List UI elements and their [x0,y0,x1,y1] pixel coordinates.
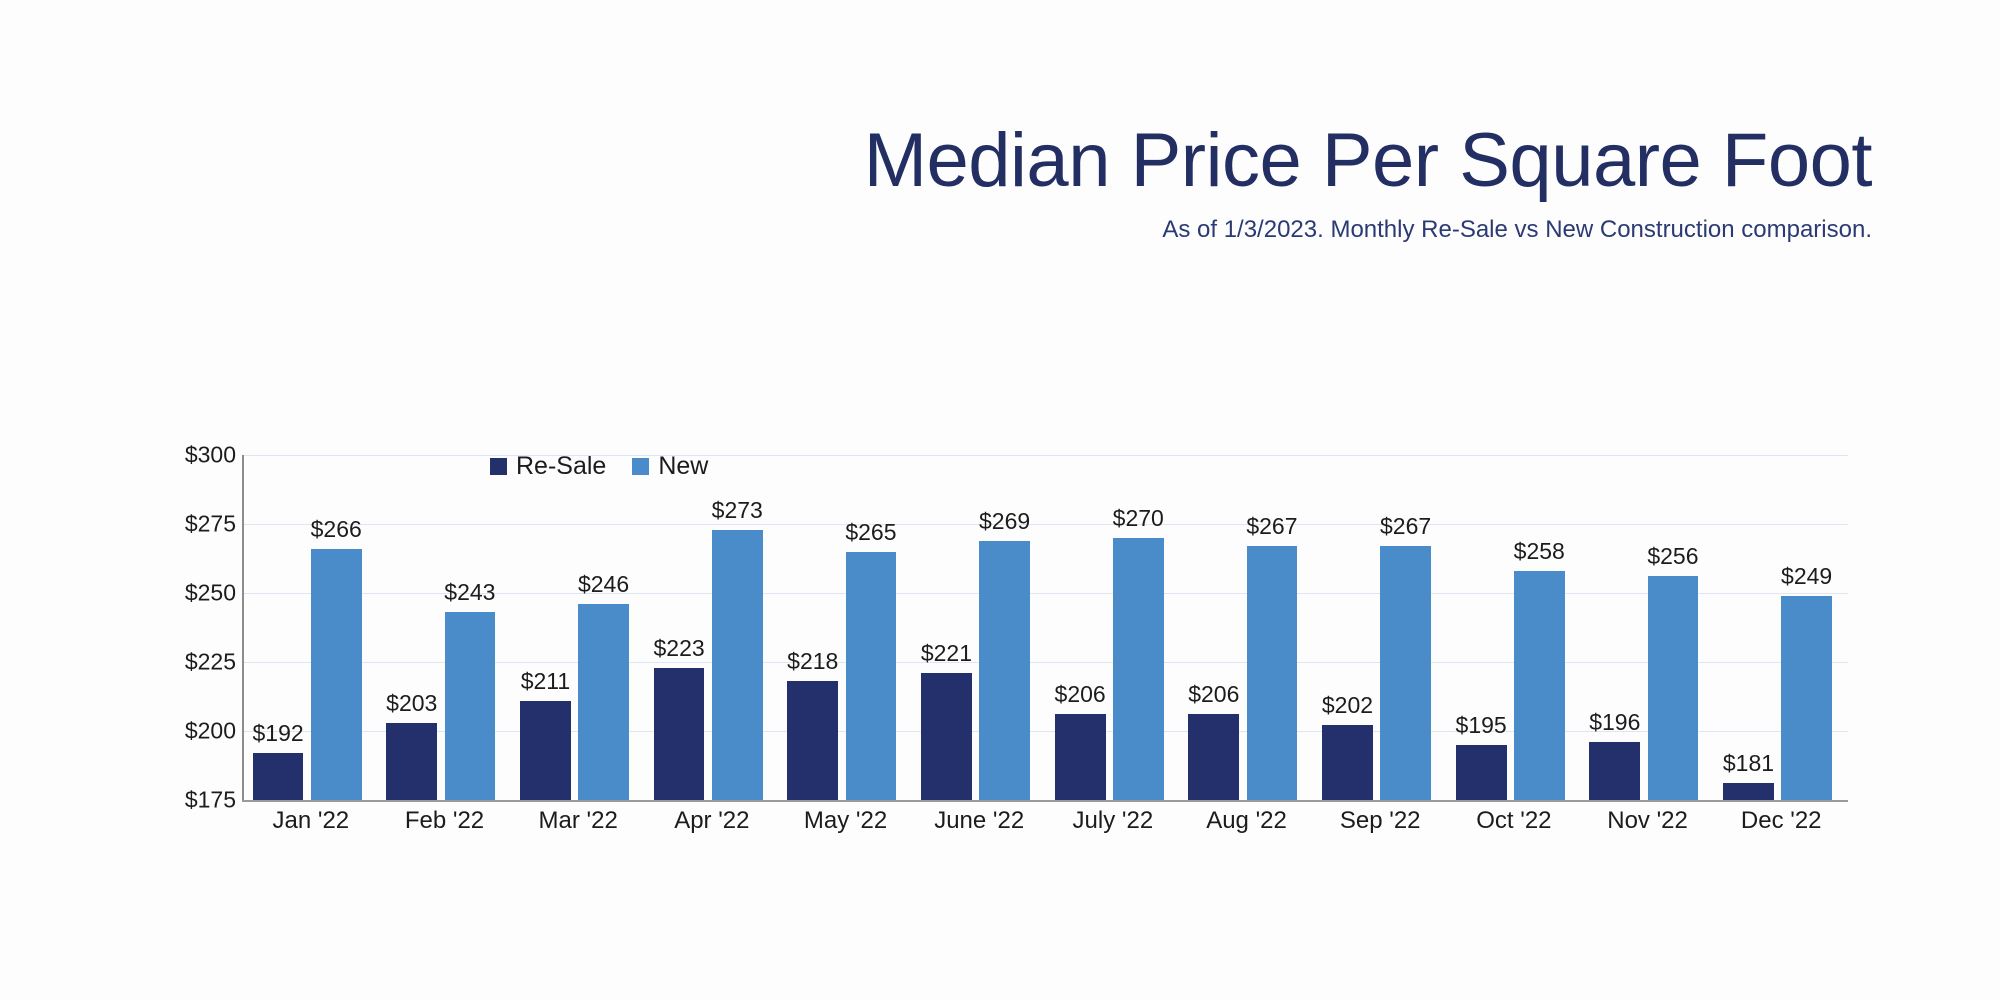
y-axis-tick-labels: $175$200$225$250$275$300 [160,455,236,801]
bar-value-label: $206 [1188,681,1239,708]
bar-resale[interactable]: $192 [253,753,304,800]
bar-new[interactable]: $243 [445,612,496,800]
bar-new[interactable]: $273 [712,530,763,800]
bar-group: $218$265 [779,455,913,800]
bar-value-label: $221 [921,640,972,667]
bar-new[interactable]: $258 [1514,571,1565,800]
bar-group: $196$256 [1581,455,1715,800]
bar-new[interactable]: $270 [1113,538,1164,800]
chart-subtitle: As of 1/3/2023. Monthly Re-Sale vs New C… [0,216,1872,244]
x-axis-tick-label: Mar '22 [511,807,645,835]
legend-label: Re-Sale [516,452,606,481]
legend-swatch-icon [632,458,649,475]
bar-value-label: $196 [1589,709,1640,736]
bar-value-label: $243 [444,579,495,606]
bar-groups: $192$266$203$243$211$246$223$273$218$265… [244,455,1848,800]
bar-resale[interactable]: $221 [921,673,972,800]
bar-group: $221$269 [912,455,1046,800]
chart-legend: Re-SaleNew [490,452,708,481]
bar-value-label: $249 [1781,563,1832,590]
x-axis-tick-label: Dec '22 [1714,807,1848,835]
bar-value-label: $265 [845,519,896,546]
bar-value-label: $223 [654,635,705,662]
bar-group: $206$267 [1180,455,1314,800]
bar-value-label: $203 [386,690,437,717]
y-axis-tick-label: $300 [160,442,236,469]
x-axis-line [242,800,1848,802]
bar-resale[interactable]: $202 [1322,725,1373,800]
x-axis-tick-label: May '22 [779,807,913,835]
legend-item[interactable]: New [632,452,708,481]
bar-new[interactable]: $269 [979,541,1030,800]
bar-value-label: $202 [1322,692,1373,719]
x-axis-tick-label: June '22 [912,807,1046,835]
legend-label: New [658,452,708,481]
y-axis-tick-label: $225 [160,649,236,676]
bar-value-label: $258 [1514,538,1565,565]
x-axis-tick-label: Apr '22 [645,807,779,835]
bar-value-label: $206 [1055,681,1106,708]
bar-new[interactable]: $249 [1781,596,1832,800]
bar-value-label: $218 [787,648,838,675]
bar-value-label: $267 [1246,513,1297,540]
chart-plot-wrapper: $175$200$225$250$275$300 $192$266$203$24… [160,455,1860,815]
bar-value-label: $181 [1723,750,1774,777]
y-axis-tick-label: $275 [160,511,236,538]
bar-new[interactable]: $246 [578,604,629,800]
bar-value-label: $267 [1380,513,1431,540]
chart-card: Median Price Per Square Foot As of 1/3/2… [0,0,2000,1000]
bar-resale[interactable]: $218 [787,681,838,800]
chart-header: Median Price Per Square Foot As of 1/3/2… [0,120,1872,244]
y-axis-tick-label: $175 [160,787,236,814]
x-axis-tick-label: Feb '22 [378,807,512,835]
x-axis-tick-label: Jan '22 [244,807,378,835]
page-title: Median Price Per Square Foot [0,120,1872,202]
bar-group: $203$243 [378,455,512,800]
x-axis-tick-label: July '22 [1046,807,1180,835]
x-axis-tick-label: Oct '22 [1447,807,1581,835]
bar-group: $181$249 [1714,455,1848,800]
bar-resale[interactable]: $195 [1456,745,1507,800]
bar-value-label: $211 [521,668,570,695]
bar-new[interactable]: $265 [846,552,897,800]
bar-value-label: $192 [252,720,303,747]
bar-resale[interactable]: $196 [1589,742,1640,800]
bar-value-label: $256 [1647,543,1698,570]
plot-area: $192$266$203$243$211$246$223$273$218$265… [244,455,1848,800]
y-axis-tick-label: $200 [160,718,236,745]
bar-group: $211$246 [511,455,645,800]
bar-new[interactable]: $266 [311,549,362,800]
y-axis-tick-label: $250 [160,580,236,607]
x-axis-tick-labels: Jan '22Feb '22Mar '22Apr '22May '22June … [244,807,1848,835]
bar-value-label: $266 [311,516,362,543]
bar-group: $192$266 [244,455,378,800]
bar-group: $202$267 [1313,455,1447,800]
bar-resale[interactable]: $203 [386,723,437,800]
x-axis-tick-label: Sep '22 [1313,807,1447,835]
bar-value-label: $270 [1113,505,1164,532]
bar-value-label: $195 [1456,712,1507,739]
bar-new[interactable]: $256 [1648,576,1699,800]
bar-group: $206$270 [1046,455,1180,800]
bar-resale[interactable]: $206 [1055,714,1106,800]
bar-value-label: $246 [578,571,629,598]
bar-group: $223$273 [645,455,779,800]
bar-resale[interactable]: $211 [520,701,571,800]
bar-new[interactable]: $267 [1380,546,1431,800]
x-axis-tick-label: Nov '22 [1581,807,1715,835]
bar-resale[interactable]: $223 [654,668,705,800]
bar-resale[interactable]: $181 [1723,783,1774,800]
bar-group: $195$258 [1447,455,1581,800]
bar-value-label: $273 [712,497,763,524]
bar-new[interactable]: $267 [1247,546,1298,800]
legend-item[interactable]: Re-Sale [490,452,606,481]
legend-swatch-icon [490,458,507,475]
x-axis-tick-label: Aug '22 [1180,807,1314,835]
bar-value-label: $269 [979,508,1030,535]
bar-resale[interactable]: $206 [1188,714,1239,800]
